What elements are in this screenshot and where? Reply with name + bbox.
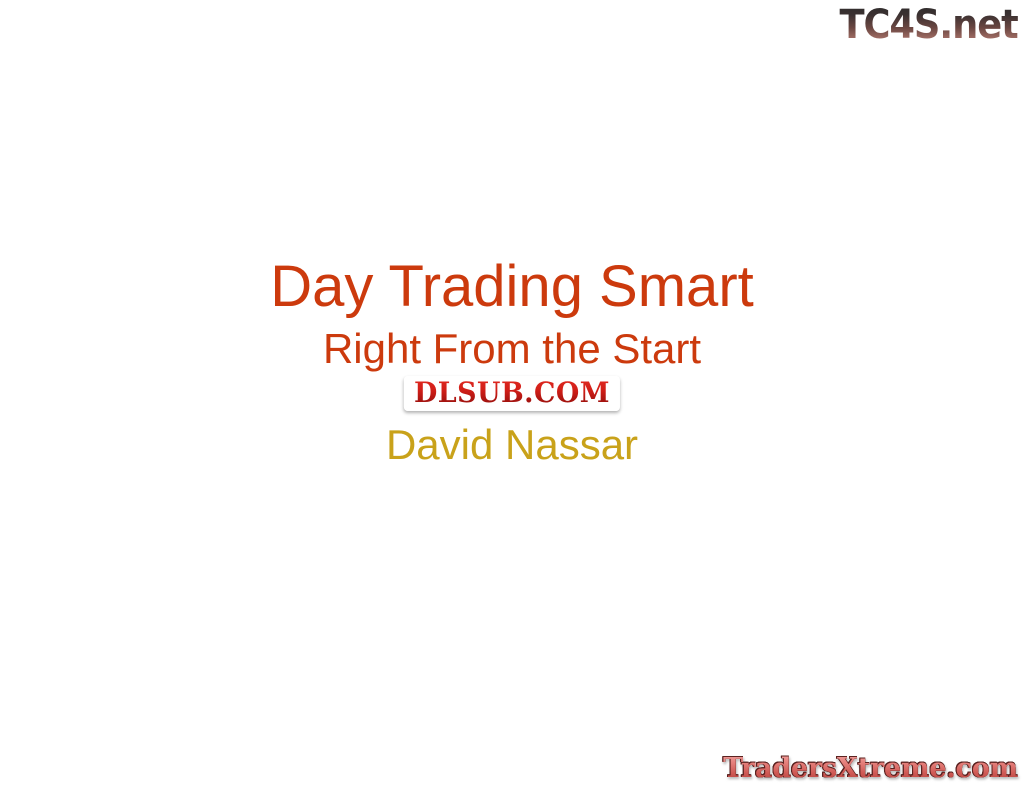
dlsub-com-watermark-label: DLSUB.COM bbox=[414, 378, 610, 408]
tradersxtreme-com-watermark-label: TradersXtreme.com bbox=[723, 753, 1018, 785]
tradersxtreme-com-watermark: TradersXtreme.com bbox=[723, 753, 1018, 785]
tc4s-net-logo: TC4S.net bbox=[840, 2, 1018, 48]
title-block: Day Trading Smart Right From the Start D… bbox=[0, 255, 1024, 469]
dlsub-com-watermark: DLSUB.COM bbox=[404, 376, 620, 411]
author-name: David Nassar bbox=[0, 421, 1024, 469]
presentation-slide: TC4S.net Day Trading Smart Right From th… bbox=[0, 0, 1024, 791]
page-title: Day Trading Smart bbox=[0, 255, 1024, 319]
page-subtitle: Right From the Start bbox=[0, 325, 1024, 373]
